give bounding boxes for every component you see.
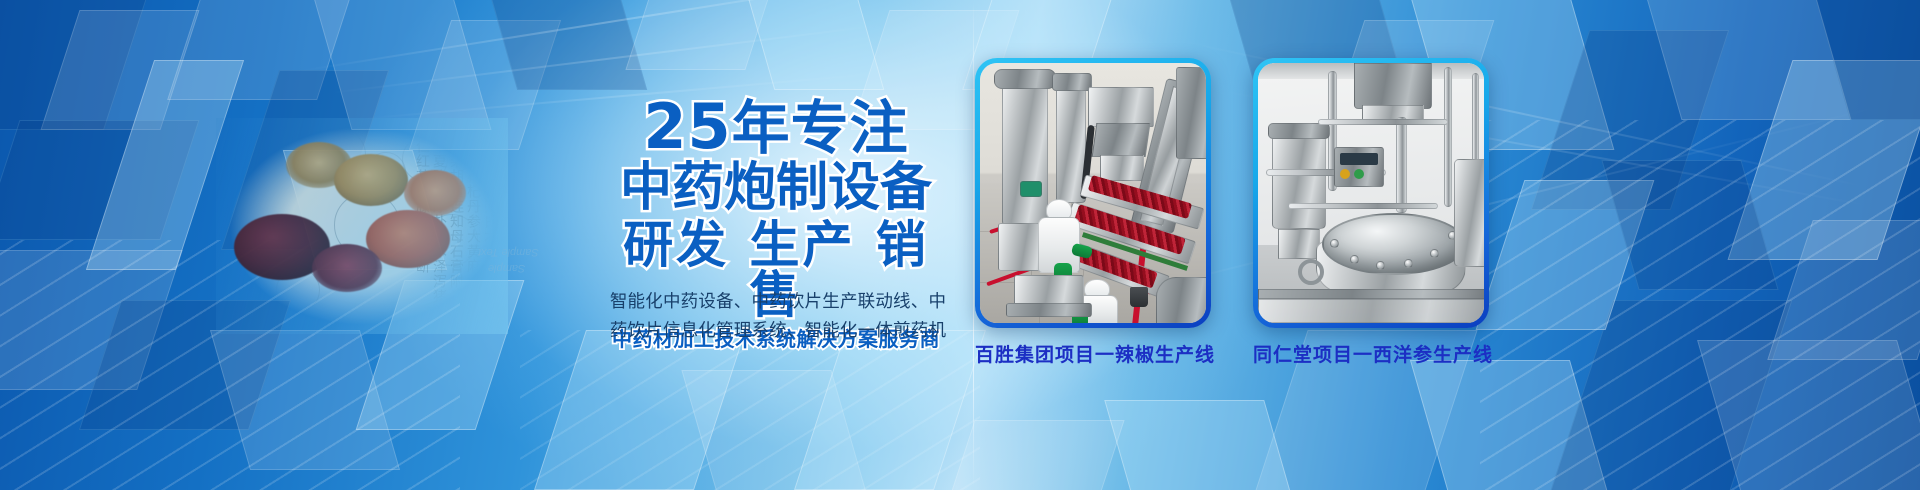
- watermark-sample-text-1: Sample Text: [478, 246, 539, 258]
- extractor-vessel-lid: [1322, 213, 1466, 275]
- photo-caption-ginseng: 同仁堂项目一西洋参生产线: [1253, 340, 1493, 367]
- years-suffix: 年专注: [732, 94, 909, 162]
- promotional-banner: 人参黄芪当归白术茯苓甘草川芎地黄枸杞丹参大黄麻黄桂枝芍药柴胡黄连知母石膏附子干姜…: [0, 0, 1920, 490]
- photo-caption-chili: 百胜集团项目一辣椒生产线: [975, 340, 1215, 367]
- vertical-divider: [973, 0, 974, 490]
- description-line-2: 药饮片信息化管理系统、智能化一体煎药机: [578, 317, 978, 346]
- watermark-sample-text-2: Sample: [488, 262, 525, 274]
- photo-card-chili: 百胜集团项目一辣椒生产线: [975, 58, 1215, 367]
- photo-frame-ginseng: [1253, 58, 1489, 328]
- headline-line-1: 25年专注: [598, 96, 954, 158]
- description-block: 智能化中药设备、中药饮片生产联动线、中 药饮片信息化管理系统、智能化一体煎药机: [578, 288, 978, 346]
- photo-image-ginseng: [1258, 63, 1484, 323]
- description-line-1: 智能化中药设备、中药饮片生产联动线、中: [578, 288, 978, 317]
- blue-overlay-veil: [216, 118, 508, 334]
- years-number: 25: [643, 90, 731, 163]
- headline-line-2: 中药炮制设备: [598, 162, 954, 214]
- photo-frame-chili: [975, 58, 1211, 328]
- herb-and-ancient-book-collage: 人参黄芪当归白术茯苓甘草川芎地黄枸杞丹参大黄麻黄桂枝芍药柴胡黄连知母石膏附子干姜…: [216, 118, 508, 334]
- photo-image-chili: [980, 63, 1206, 323]
- photo-card-ginseng: 同仁堂项目一西洋参生产线: [1253, 58, 1493, 367]
